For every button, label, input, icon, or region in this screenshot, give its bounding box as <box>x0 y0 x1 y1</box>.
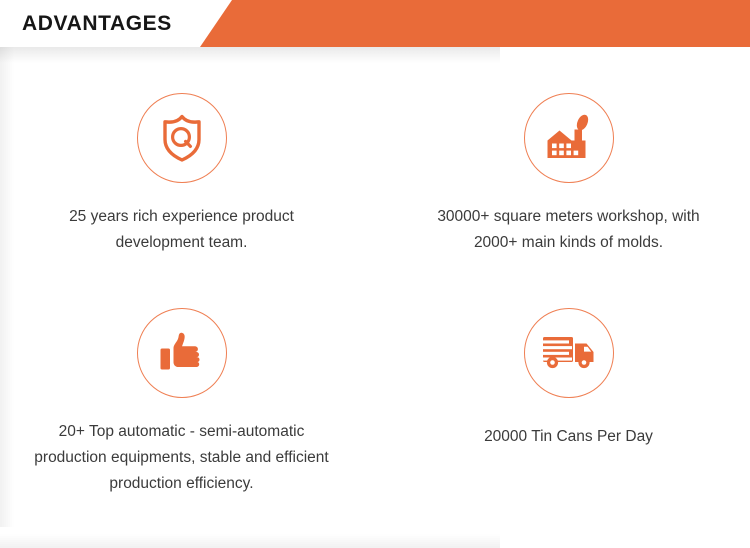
advantage-text: 25 years rich experience product develop… <box>32 204 332 256</box>
icon-circle <box>137 93 227 183</box>
advantage-card: 25 years rich experience product develop… <box>0 63 363 256</box>
advantage-card: 30000+ square meters workshop, with 2000… <box>387 63 750 256</box>
header-shadow <box>0 47 500 63</box>
icon-circle <box>524 93 614 183</box>
advantage-card: 20000 Tin Cans Per Day <box>387 278 750 497</box>
icon-circle <box>137 308 227 398</box>
thumbs-up-icon <box>157 329 207 377</box>
advantages-grid: 25 years rich experience product develop… <box>0 63 750 497</box>
shield-quality-icon <box>158 113 206 163</box>
factory-icon <box>543 113 595 163</box>
advantage-text: 20000 Tin Cans Per Day <box>419 424 719 450</box>
header-accent-shape <box>200 0 750 47</box>
advantages-page: ADVANTAGES 25 years rich experience prod… <box>0 0 750 548</box>
icon-circle <box>524 308 614 398</box>
advantage-text: 30000+ square meters workshop, with 2000… <box>419 204 719 256</box>
section-header: ADVANTAGES <box>0 0 750 47</box>
page-title: ADVANTAGES <box>22 13 172 35</box>
delivery-truck-icon <box>541 333 597 373</box>
advantage-text: 20+ Top automatic - semi-automatic produ… <box>27 419 337 497</box>
advantage-card: 20+ Top automatic - semi-automatic produ… <box>0 278 363 497</box>
bottom-edge-shadow <box>0 534 500 548</box>
